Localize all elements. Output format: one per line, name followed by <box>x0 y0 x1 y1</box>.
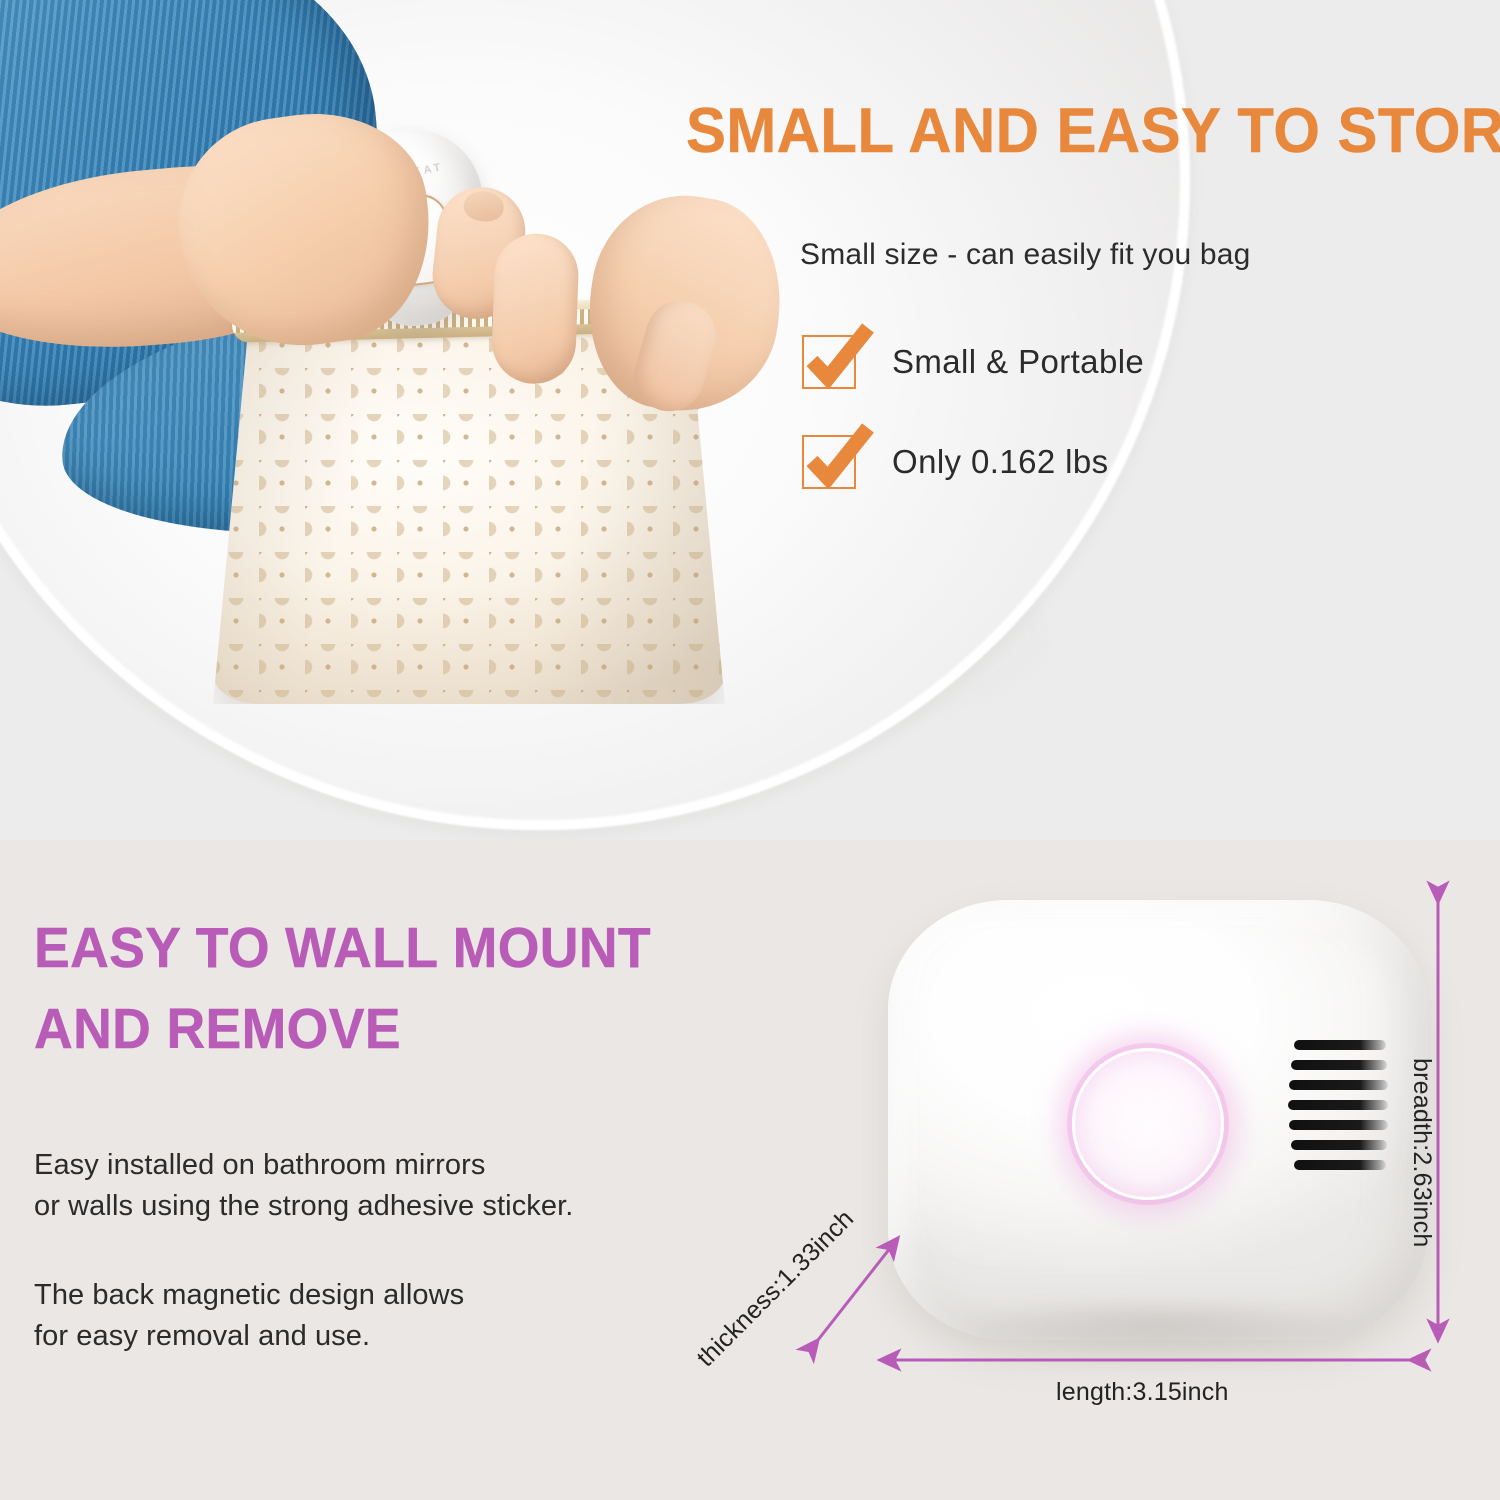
checkbox-checked-icon <box>802 435 856 489</box>
vent-slot <box>1291 1060 1387 1070</box>
top-subheading: Small size - can easily fit you bag <box>800 238 1251 272</box>
vent-slot <box>1294 1040 1386 1050</box>
vent-slot <box>1289 1120 1388 1130</box>
paragraph-2-line-1: The back magnetic design allows <box>34 1279 464 1311</box>
device-vent-grille <box>1284 1040 1396 1172</box>
middle-finger <box>491 232 580 385</box>
vent-slot <box>1291 1140 1387 1150</box>
top-heading: SMALL AND EASY TO STORE <box>686 100 1446 163</box>
bottom-paragraph-1: Easy installed on bathroom mirrors or wa… <box>34 1145 573 1227</box>
bottom-section: EASY TO WALL MOUNT AND REMOVE Easy insta… <box>0 840 1500 1500</box>
checkmark-icon <box>802 421 876 495</box>
device-indicator-ring-icon <box>1072 1048 1224 1200</box>
checkbox-checked-icon <box>802 335 856 389</box>
paragraph-2-line-2: for easy removal and use. <box>34 1320 370 1352</box>
checkmark-icon <box>802 321 876 395</box>
vent-slot <box>1289 1080 1388 1090</box>
bottom-heading-line-2: AND REMOVE <box>34 989 692 1070</box>
vent-slot <box>1294 1160 1386 1170</box>
bottom-heading-line-1: EASY TO WALL MOUNT <box>34 908 692 989</box>
length-dimension-label: length:3.15inch <box>1056 1378 1229 1407</box>
checklist-item-label: Only 0.162 lbs <box>892 443 1109 481</box>
top-section: HIRVKAT SMALL AND EASY TO STORE Small si… <box>0 0 1500 840</box>
checklist-item-label: Small & Portable <box>892 343 1144 381</box>
product-device <box>888 900 1428 1340</box>
vent-slot <box>1288 1100 1388 1110</box>
breadth-dimension-label: breadth:2.63inch <box>1407 1058 1436 1247</box>
paragraph-1-line-1: Easy installed on bathroom mirrors <box>34 1149 485 1181</box>
checklist-item: Small & Portable <box>802 325 1442 399</box>
feature-checklist: Small & Portable Only 0.162 lbs <box>802 325 1442 525</box>
bottom-paragraph-2: The back magnetic design allows for easy… <box>34 1275 464 1357</box>
bottom-heading: EASY TO WALL MOUNT AND REMOVE <box>34 908 692 1070</box>
checklist-item: Only 0.162 lbs <box>802 425 1442 499</box>
fingernail <box>462 189 505 223</box>
infographic-page: HIRVKAT SMALL AND EASY TO STORE Small si… <box>0 0 1500 1500</box>
paragraph-1-line-2: or walls using the strong adhesive stick… <box>34 1190 573 1222</box>
